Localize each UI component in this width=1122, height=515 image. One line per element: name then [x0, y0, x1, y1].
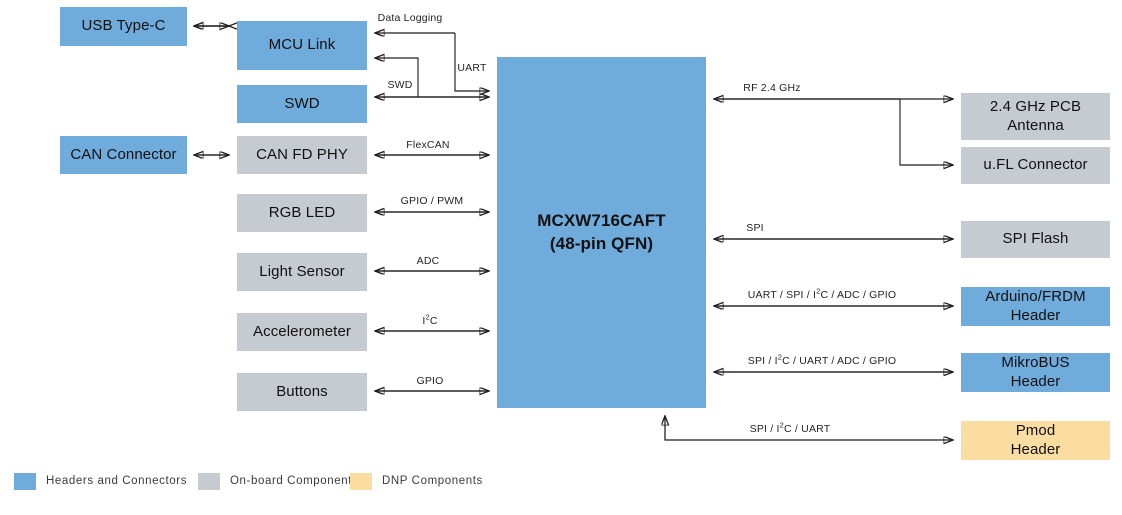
- legend-item-headers-connectors: Headers and Connectors: [14, 473, 187, 490]
- bus-suffix: C / UART: [784, 423, 830, 435]
- legend-item-onboard-components: On-board Components: [198, 473, 358, 490]
- i2c-suffix: C: [430, 315, 438, 327]
- block-light-sensor[interactable]: Light Sensor: [237, 253, 367, 291]
- block-accelerometer[interactable]: Accelerometer: [237, 313, 367, 351]
- block-pmod-header[interactable]: Pmod Header: [961, 421, 1110, 460]
- block-mcu-link[interactable]: MCU Link: [237, 21, 367, 70]
- legend-swatch-amber: [350, 473, 372, 490]
- block-label: Light Sensor: [259, 263, 344, 282]
- wire-label-spi: SPI: [746, 222, 764, 234]
- wire-label-rf-24ghz: RF 2.4 GHz: [743, 82, 800, 94]
- block-label: CAN FD PHY: [256, 146, 348, 165]
- block-mcu-mcxw716caft[interactable]: MCXW716CAFT (48-pin QFN): [497, 57, 706, 408]
- bus-prefix: UART / SPI / I: [748, 289, 816, 301]
- block-label: CAN Connector: [70, 146, 176, 165]
- block-buttons[interactable]: Buttons: [237, 373, 367, 411]
- wire-label-data-logging: Data Logging: [378, 12, 443, 24]
- legend-item-dnp-components: DNP Components: [350, 473, 483, 490]
- legend: Headers and Connectors On-board Componen…: [0, 466, 1122, 496]
- block-label-line1: 2.4 GHz PCB: [990, 98, 1081, 117]
- block-label-line2: Antenna: [1007, 117, 1064, 136]
- bus-suffix: C / ADC / GPIO: [821, 289, 897, 301]
- block-label: RGB LED: [269, 204, 336, 223]
- block-diagram-canvas: USB Type-C CAN Connector MCU Link SWD CA…: [0, 0, 1122, 515]
- bus-prefix: SPI / I: [750, 423, 780, 435]
- block-24ghz-pcb-antenna[interactable]: 2.4 GHz PCB Antenna: [961, 93, 1110, 140]
- block-can-connector[interactable]: CAN Connector: [60, 136, 187, 174]
- legend-swatch-gray: [198, 473, 220, 490]
- wire-label-gpio-pwm: GPIO / PWM: [401, 195, 464, 207]
- legend-swatch-blue: [14, 473, 36, 490]
- wire-label-pmod-buses: SPI / I2C / UART: [750, 423, 831, 435]
- bus-suffix: C / UART / ADC / GPIO: [782, 355, 896, 367]
- block-label-line2: Header: [1011, 373, 1061, 392]
- block-label-line2: Header: [1011, 307, 1061, 326]
- block-swd[interactable]: SWD: [237, 85, 367, 123]
- block-label-line1: u.FL Connector: [983, 156, 1087, 175]
- block-label: MCU Link: [269, 36, 336, 55]
- block-arduino-frdm-header[interactable]: Arduino/FRDM Header: [961, 287, 1110, 326]
- block-label-line1: MikroBUS: [1001, 354, 1069, 373]
- block-label: USB Type-C: [81, 17, 165, 36]
- legend-label: Headers and Connectors: [46, 475, 187, 487]
- block-label-line1: SPI Flash: [1003, 230, 1069, 249]
- block-label: SWD: [284, 95, 319, 114]
- block-ufl-connector[interactable]: u.FL Connector: [961, 147, 1110, 184]
- wire-label-swd: SWD: [387, 79, 412, 91]
- block-label: Buttons: [276, 383, 328, 402]
- block-can-fd-phy[interactable]: CAN FD PHY: [237, 136, 367, 174]
- wire-label-mikrobus-buses: SPI / I2C / UART / ADC / GPIO: [748, 355, 896, 367]
- wire-label-arduino-buses: UART / SPI / I2C / ADC / GPIO: [748, 289, 896, 301]
- mcu-package: (48-pin QFN): [550, 233, 653, 256]
- block-mikrobus-header[interactable]: MikroBUS Header: [961, 353, 1110, 392]
- block-label-line2: Header: [1011, 441, 1061, 460]
- wire-label-flexcan: FlexCAN: [406, 139, 449, 151]
- bus-prefix: SPI / I: [748, 355, 778, 367]
- block-usb-type-c[interactable]: USB Type-C: [60, 7, 187, 46]
- wire-label-adc: ADC: [417, 255, 440, 267]
- wire-label-uart: UART: [457, 62, 486, 74]
- mcu-part-number: MCXW716CAFT: [537, 210, 666, 233]
- block-label-line1: Arduino/FRDM: [985, 288, 1085, 307]
- block-rgb-led[interactable]: RGB LED: [237, 194, 367, 232]
- block-spi-flash[interactable]: SPI Flash: [961, 221, 1110, 258]
- legend-label: DNP Components: [382, 475, 483, 487]
- wire-label-i2c-accel: I2C: [422, 315, 437, 327]
- wire-label-gpio: GPIO: [416, 375, 443, 387]
- block-label-line1: Pmod: [1016, 422, 1056, 441]
- block-label: Accelerometer: [253, 323, 351, 342]
- legend-label: On-board Components: [230, 475, 358, 487]
